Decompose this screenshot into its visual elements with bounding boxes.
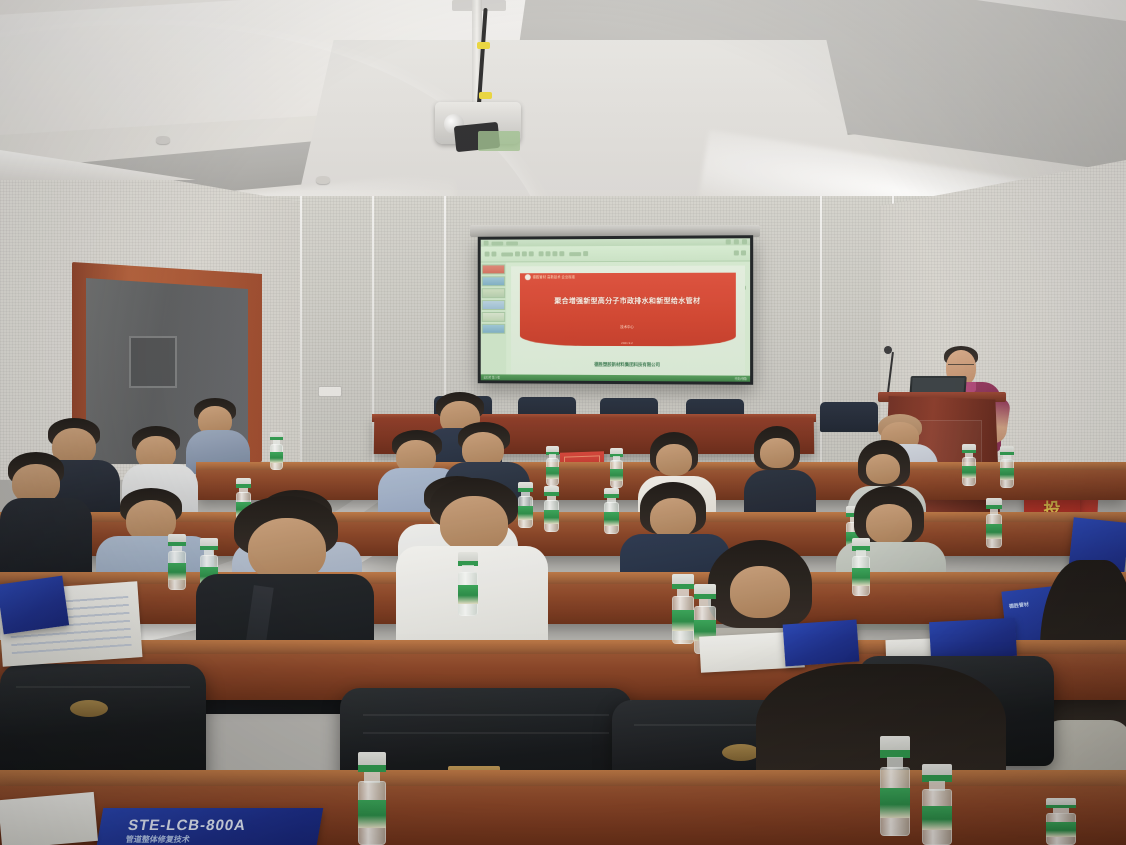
- powerpoint-body: 德胜管材 高新技术 企业标准 聚合增强新型高分子市政排水和新型给水管材 技术中心…: [481, 261, 750, 381]
- cable-tie-icon: [477, 42, 490, 49]
- water-bottle: [358, 752, 386, 845]
- water-bottle: [458, 552, 478, 616]
- quick-access-toolbar: [491, 241, 503, 245]
- status-language: 中文(中国): [735, 377, 747, 381]
- chair-seam: [16, 686, 189, 688]
- powerpoint-status-bar: 幻灯片 第 1 张 中文(中国): [481, 374, 750, 381]
- ribbon-group-font[interactable]: [501, 251, 533, 256]
- slide-thumbnail[interactable]: [482, 312, 505, 322]
- app-icon: [484, 241, 489, 246]
- window-title: [506, 241, 518, 245]
- water-bottle: [672, 574, 694, 644]
- slide-thumbnail[interactable]: [482, 300, 505, 310]
- ribbon-group-drawing[interactable]: [569, 251, 588, 256]
- brochure-front-code: STE-LCB-800A: [127, 817, 248, 834]
- minimize-icon[interactable]: [726, 239, 731, 244]
- chair-seam: [363, 732, 608, 734]
- water-bottle: [270, 432, 283, 470]
- attendee: [0, 452, 92, 572]
- smoke-detector-icon: [316, 176, 330, 184]
- slide-red-banner: [520, 272, 735, 346]
- brochure-on-desk-left: [0, 576, 69, 635]
- ribbon-group-paragraph[interactable]: [539, 251, 565, 256]
- water-bottle: [1046, 798, 1076, 845]
- brochure-on-desk: [929, 618, 1017, 660]
- ribbon-group-editing[interactable]: [734, 250, 746, 255]
- chair-seam: [363, 714, 608, 716]
- slide-thumbnail[interactable]: [482, 276, 505, 286]
- door-window: [129, 336, 177, 388]
- water-bottle: [852, 538, 870, 596]
- slide-footer-company: 德胜塑胶新材料集团科技有限公司: [511, 362, 745, 369]
- microphone-icon: [884, 346, 892, 354]
- slide-subtitle: 技术中心: [511, 324, 745, 329]
- brochure-on-desk: [783, 619, 860, 666]
- status-slide-number: 幻灯片 第 1 张: [484, 375, 500, 379]
- slide-thumbnail[interactable]: [482, 288, 505, 298]
- water-bottle: [168, 534, 186, 590]
- speaker-glasses-icon: [948, 364, 974, 370]
- slide-thumbnail-pane[interactable]: [481, 262, 506, 380]
- projector-underside-glow: [478, 131, 520, 151]
- water-bottle: [962, 444, 976, 486]
- wall-seam: [300, 196, 302, 466]
- slide-logo: 德胜管材 高新技术 企业标准: [525, 274, 575, 280]
- water-bottle: [604, 488, 619, 534]
- cable-tie-icon: [479, 92, 492, 99]
- current-slide: 德胜管材 高新技术 企业标准 聚合增强新型高分子市政排水和新型给水管材 技术中心…: [511, 266, 745, 378]
- close-icon[interactable]: [742, 239, 747, 244]
- conference-room-photo: 德胜管材 高新技术 企业标准 聚合增强新型高分子市政排水和新型给水管材 技术中心…: [0, 0, 1126, 845]
- brochure-front-sub: 管道整体修复技术: [125, 834, 191, 845]
- chair-brand-badge: [70, 700, 108, 717]
- slide-logo-text: 德胜管材 高新技术 企业标准: [533, 274, 575, 279]
- slide-title: 聚合增强新型高分子市政排水和新型给水管材: [511, 296, 745, 306]
- water-bottle: [1000, 446, 1014, 488]
- brochure-product-front: STE-LCB-800A 管道整体修复技术: [97, 808, 324, 845]
- projection-screen: 德胜管材 高新技术 企业标准 聚合增强新型高分子市政排水和新型给水管材 技术中心…: [478, 235, 753, 385]
- handout-paper-foreground: [0, 792, 98, 845]
- water-bottle: [922, 764, 952, 845]
- wall-outlet-icon: [318, 386, 342, 397]
- office-chair[interactable]: [0, 664, 206, 784]
- slide-thumbnail[interactable]: [482, 264, 505, 274]
- powerpoint-ribbon[interactable]: [481, 245, 750, 262]
- slide-thumbnail[interactable]: [482, 324, 505, 334]
- slide-stage: 德胜管材 高新技术 企业标准 聚合增强新型高分子市政排水和新型给水管材 技术中心…: [506, 261, 750, 381]
- slide-date: 2021.9.2: [511, 341, 745, 346]
- attendee: [744, 426, 816, 522]
- chair-brand-badge: [722, 744, 760, 761]
- maximize-icon[interactable]: [734, 239, 739, 244]
- ribbon-group-clipboard[interactable]: [485, 252, 497, 257]
- desk-row-3: [0, 584, 1126, 624]
- water-bottle: [880, 736, 910, 836]
- powerpoint-window: 德胜管材 高新技术 企业标准 聚合增强新型高分子市政排水和新型给水管材 技术中心…: [481, 238, 750, 382]
- brand-mark-icon: [525, 274, 531, 280]
- water-bottle: [986, 498, 1002, 548]
- smoke-detector-icon: [156, 136, 170, 144]
- brochure-hand-title: 德胜管材: [1009, 601, 1030, 610]
